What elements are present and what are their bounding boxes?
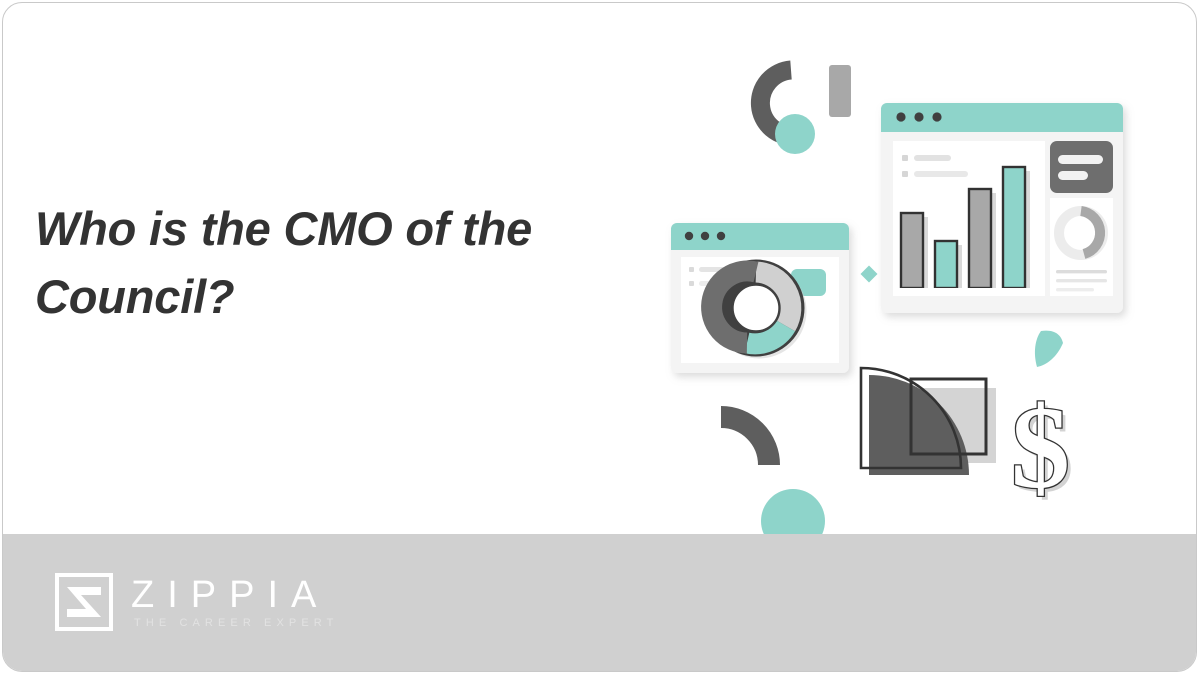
bar-1	[901, 213, 923, 288]
analytics-dashboard-illustration: $ $	[643, 43, 1163, 563]
shapes-group	[861, 368, 996, 475]
teal-diamond	[861, 266, 878, 283]
zippia-logo[interactable]: ZIPPIA THE CAREER EXPERT	[55, 573, 338, 631]
quarter-arc-gray	[721, 417, 769, 465]
teal-petal-shape	[1035, 331, 1063, 367]
page-title: Who is the CMO of the Council?	[35, 195, 635, 331]
dollar-sign: $ $	[1011, 382, 1074, 517]
logo-tagline: THE CAREER EXPERT	[131, 615, 338, 631]
zippia-z-mark	[55, 573, 113, 631]
dashboard-window-large[interactable]	[881, 103, 1123, 313]
bar-2	[935, 241, 957, 288]
svg-text:$: $	[1011, 382, 1070, 513]
window-dots	[896, 112, 941, 121]
teal-circle-small	[775, 114, 815, 154]
bar-4	[1003, 167, 1025, 288]
side-panel	[1050, 198, 1113, 296]
summary-card	[1050, 141, 1113, 193]
donut-chart-small-window	[712, 271, 795, 347]
slide-card: Who is the CMO of the Council?	[2, 2, 1197, 672]
window-dots	[685, 232, 725, 240]
bar-3	[969, 189, 991, 288]
logo-wordmark: ZIPPIA	[131, 575, 338, 615]
dashboard-window-small[interactable]	[671, 223, 849, 373]
gray-rounded-bar	[829, 65, 851, 117]
